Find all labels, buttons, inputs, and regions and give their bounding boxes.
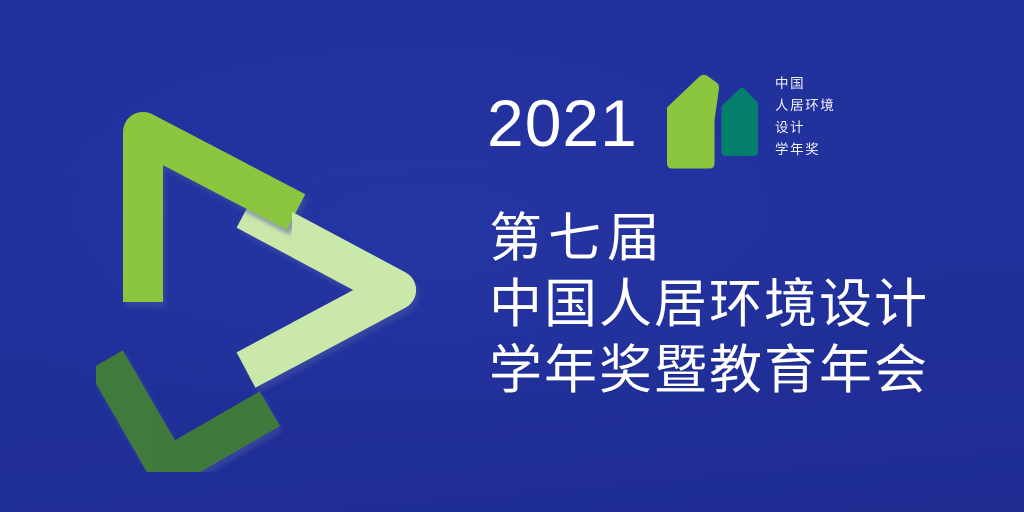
organizer-lines: 中国 人居环境 设计 学年奖 (775, 74, 835, 161)
top-row: 2021 中国 人居环境 设计 学年奖 (487, 68, 957, 180)
title-line-2: 中国人居环境设计 (489, 272, 929, 338)
poster-canvas: 2021 中国 人居环境 设计 学年奖 第七届 中国人居环境设计 学年奖暨教育年… (0, 0, 1024, 512)
emblem-triple-chevron (96, 52, 456, 472)
content-column: 2021 中国 人居环境 设计 学年奖 第七届 中国人居环境设计 学年奖暨教育年… (487, 68, 957, 428)
organizer-line-3: 设计 (775, 118, 835, 140)
logo-shape-teal (722, 88, 759, 156)
house-pair-logo (655, 72, 761, 176)
title-line-3: 学年奖暨教育年会 (489, 338, 929, 404)
chevron-inner-echo (216, 257, 336, 382)
organizer-line-2: 人居环境 (775, 96, 835, 118)
title-line-1: 第七届 (489, 206, 929, 272)
poster-title: 第七届 中国人居环境设计 学年奖暨教育年会 (489, 206, 929, 404)
organizer-line-4: 学年奖 (775, 140, 835, 162)
organizer-line-1: 中国 (775, 74, 835, 96)
year-label: 2021 (487, 90, 638, 156)
logo-shape-green (667, 75, 719, 169)
